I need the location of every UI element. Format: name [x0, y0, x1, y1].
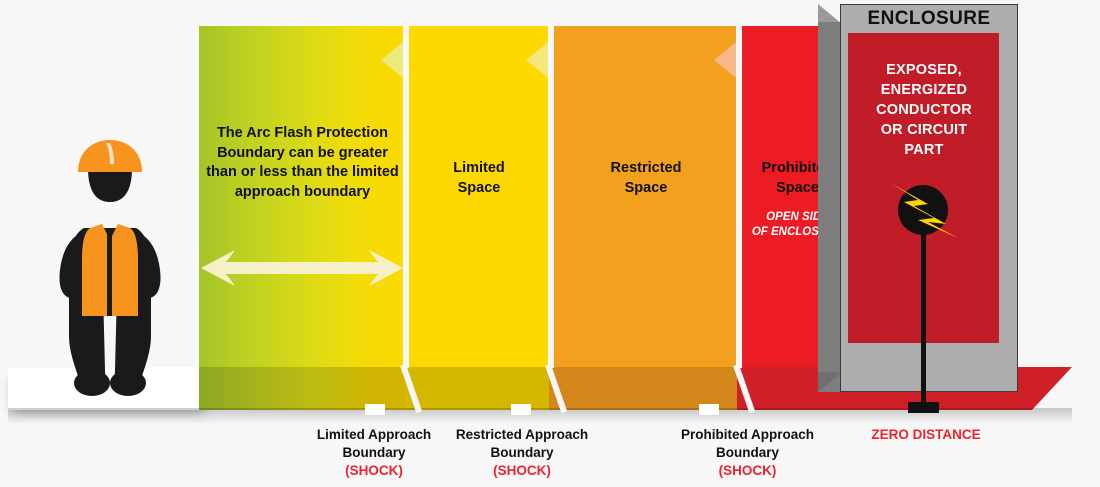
arc-flash-span-arrow-icon	[201, 248, 403, 288]
boundary-caption-limited: Limited Approach Boundary (SHOCK)	[289, 426, 459, 480]
caption-restricted-line2: Boundary	[437, 444, 607, 462]
arc-flash-boundary-diagram: The Arc Flash Protection Boundary can be…	[0, 0, 1100, 487]
enclosure-bottom-bevel	[818, 372, 842, 392]
worker-figure	[40, 140, 180, 405]
worker-head	[88, 168, 132, 202]
zone-limited-space-label: Limited Space	[412, 159, 546, 198]
boundary-caption-zero-distance: ZERO DISTANCE	[845, 426, 1007, 444]
caption-prohibited-line2: Boundary	[660, 444, 835, 462]
zone-restricted-space-line1: Restricted	[558, 159, 734, 179]
zone-restricted-space-line2: Space	[558, 179, 734, 199]
boundary-pointer-icon-prohibited	[714, 42, 736, 78]
lightning-bolt-icon	[888, 178, 964, 242]
divider-limited	[403, 26, 409, 368]
boundary-pointer-icon-restricted	[526, 42, 548, 78]
hazard-line-5: PART	[850, 140, 998, 160]
enclosure-title: ENCLOSURE	[840, 8, 1018, 30]
worker-boot-right	[110, 370, 146, 396]
hazard-line-1: EXPOSED,	[850, 60, 998, 80]
zone-limited-space-line2: Space	[412, 179, 546, 199]
divider-restricted	[548, 26, 554, 368]
worker-boot-left	[74, 370, 110, 396]
boundary-tab-limited	[365, 404, 385, 415]
enclosure-top-bevel	[818, 4, 842, 24]
zone-arc-flash-label: The Arc Flash Protection Boundary can be…	[205, 124, 400, 202]
caption-limited-line2: Boundary	[289, 444, 459, 462]
hazard-line-4: OR CIRCUIT	[850, 120, 998, 140]
boundary-caption-restricted: Restricted Approach Boundary (SHOCK)	[437, 426, 607, 480]
hazard-line-2: ENERGIZED	[850, 80, 998, 100]
worker-vest-zipper	[107, 230, 112, 316]
ground-wedge-red	[1032, 367, 1072, 410]
caption-prohibited-line1: Prohibited Approach	[660, 426, 835, 444]
hazard-line-3: CONDUCTOR	[850, 100, 998, 120]
caption-restricted-line1: Restricted Approach	[437, 426, 607, 444]
boundary-pointer-icon-limited	[381, 42, 403, 78]
zone-restricted-space-label: Restricted Space	[558, 159, 734, 198]
caption-limited-line1: Limited Approach	[289, 426, 459, 444]
zone-limited-space-line1: Limited	[412, 159, 546, 179]
boundary-tab-restricted	[511, 404, 531, 415]
conductor-pole-base	[908, 402, 939, 413]
caption-prohibited-tag: (SHOCK)	[660, 462, 835, 480]
enclosure-hazard-text: EXPOSED, ENERGIZED CONDUCTOR OR CIRCUIT …	[850, 60, 998, 160]
caption-limited-tag: (SHOCK)	[289, 462, 459, 480]
caption-restricted-tag: (SHOCK)	[437, 462, 607, 480]
enclosure-side-face	[818, 22, 840, 392]
boundary-caption-prohibited: Prohibited Approach Boundary (SHOCK)	[660, 426, 835, 480]
boundary-tab-prohibited	[699, 404, 719, 415]
